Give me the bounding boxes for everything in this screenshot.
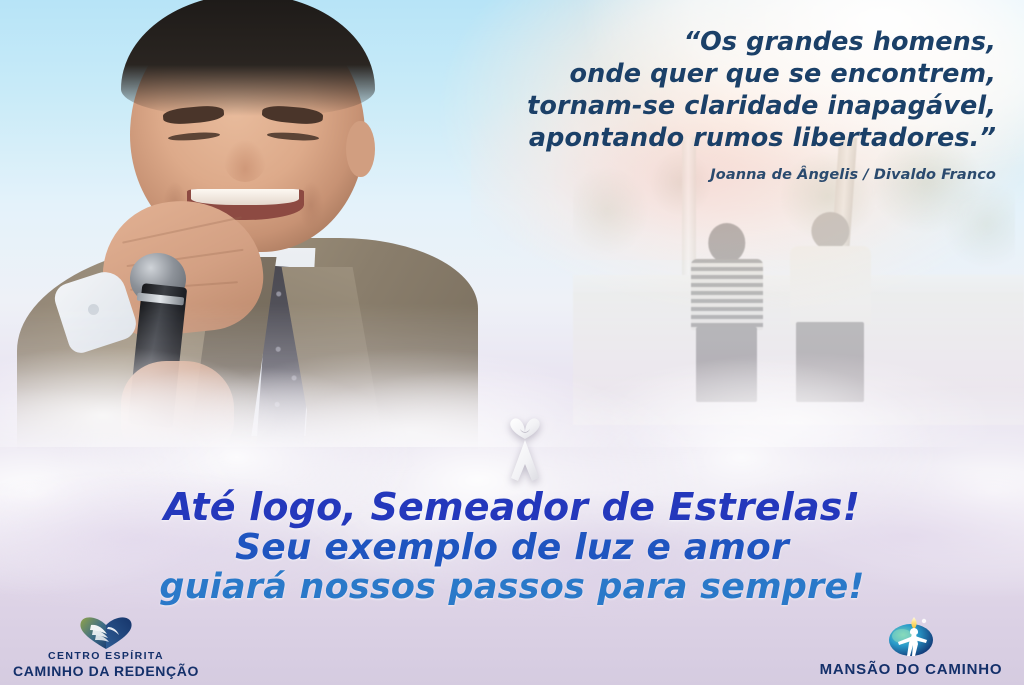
logo-left-line-1: CENTRO ESPÍRITA <box>48 650 164 663</box>
ear <box>346 121 374 177</box>
logo-mansao-do-caminho: MANSÃO DO CAMINHO <box>804 611 1018 679</box>
hand-holding-microphone <box>121 361 234 455</box>
portrait-fade-mask <box>8 0 478 464</box>
globe-figure-flame-icon <box>882 611 940 659</box>
quote-line-3: tornam-se claridade inapagável, <box>436 90 996 122</box>
hair <box>121 0 375 116</box>
quote-attribution: Joanna de Ângelis / Divaldo Franco <box>436 166 996 184</box>
headline-block: Até logo, Semeador de Estrelas! Seu exem… <box>0 486 1024 607</box>
figure-torso <box>790 246 871 326</box>
quote-line-2: onde quer que se encontrem, <box>436 58 996 90</box>
quote-line-4: apontando rumos libertadores.” <box>436 122 996 154</box>
logo-centro-espirita: CENTRO ESPÍRITA CAMINHO DA REDENÇÃO <box>6 614 206 679</box>
headline-line-3: guiará nossos passos para sempre! <box>0 568 1024 607</box>
quote-block: “Os grandes homens, onde quer que se enc… <box>436 26 996 184</box>
memorial-poster: “Os grandes homens, onde quer que se enc… <box>0 0 1024 685</box>
headline-line-2: Seu exemplo de luz e amor <box>0 528 1024 568</box>
figure-head <box>812 212 849 250</box>
hands-heart-icon <box>75 614 137 650</box>
white-mourning-ribbon-icon <box>487 412 563 488</box>
walking-figure-white-shirt <box>790 212 871 402</box>
logo-left-line-2: CAMINHO DA REDENÇÃO <box>13 663 199 679</box>
teeth <box>191 189 299 205</box>
quote-line-1: “Os grandes homens, <box>436 26 996 58</box>
figure-legs <box>696 327 757 402</box>
logo-right-line-1: MANSÃO DO CAMINHO <box>820 661 1003 679</box>
headline-line-1: Até logo, Semeador de Estrelas! <box>0 486 1024 528</box>
divaldo-franco-portrait <box>8 0 478 464</box>
figure-torso <box>691 259 763 330</box>
figure-head <box>708 223 745 262</box>
walking-figure-striped-shirt <box>691 223 763 401</box>
figure-legs <box>796 322 864 402</box>
